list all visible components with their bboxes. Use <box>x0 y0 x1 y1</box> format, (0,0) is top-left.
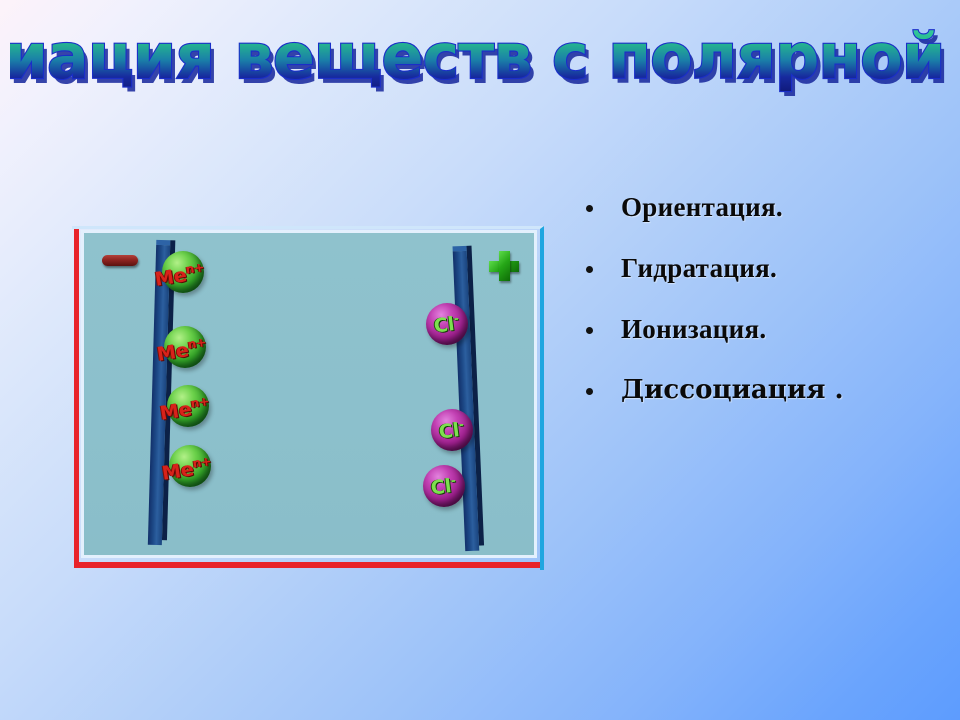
bullet-list: Ориентация. Гидратация. Ионизация. Диссо… <box>586 192 936 435</box>
anode-electrode <box>453 251 480 551</box>
anion-label: Cl- <box>433 314 461 336</box>
wordart-main: Диссоциация веществ с полярной связью <box>10 20 950 93</box>
cation-sphere: Men+ <box>162 251 204 293</box>
page-title: Диссоциация веществ с полярной связью Ди… <box>0 8 960 104</box>
bullet-label: Гидратация. <box>621 253 777 284</box>
bullet-label: Ориентация. <box>621 192 783 223</box>
cation-label: Men+ <box>156 338 209 365</box>
electrolyte-solution: Men+ Men+ Men+ Men+ Cl- Cl- Cl- <box>84 233 534 555</box>
cation-sphere: Men+ <box>164 326 206 368</box>
bullet-item-ionization[interactable]: Ионизация. <box>586 314 936 345</box>
cation-label: Men+ <box>159 397 212 424</box>
cation-label: Men+ <box>161 457 214 484</box>
bullet-item-orientation[interactable]: Ориентация. <box>586 192 936 223</box>
anion-sphere: Cl- <box>423 465 465 507</box>
bullet-label: Диссоциация . <box>621 375 844 405</box>
diagram-picture: Men+ Men+ Men+ Men+ Cl- Cl- Cl- <box>72 226 544 570</box>
cation-label: Men+ <box>154 263 207 290</box>
cation-sphere: Men+ <box>167 385 209 427</box>
bullet-dot-icon <box>586 388 593 395</box>
cation-sphere: Men+ <box>169 445 211 487</box>
bullet-item-hydration[interactable]: Гидратация. <box>586 253 936 284</box>
anion-sphere: Cl- <box>426 303 468 345</box>
bullet-label: Ионизация. <box>621 314 766 345</box>
anion-sphere: Cl- <box>431 409 473 451</box>
bullet-item-dissociation[interactable]: Диссоциация . <box>586 375 936 405</box>
minus-charge-icon <box>102 255 138 266</box>
wordart-shadow: Диссоциация веществ с полярной связью <box>10 25 950 98</box>
wordart-title-svg: Диссоциация веществ с полярной связью Ди… <box>10 8 950 104</box>
plus-icon-vertical-bar <box>499 251 510 281</box>
bullet-dot-icon <box>586 266 593 273</box>
anion-label: Cl- <box>430 476 458 498</box>
slide-canvas: Диссоциация веществ с полярной связью Ди… <box>0 0 960 720</box>
anion-label: Cl- <box>438 420 466 442</box>
bullet-dot-icon <box>586 205 593 212</box>
plus-charge-icon <box>489 251 519 281</box>
bullet-dot-icon <box>586 327 593 334</box>
